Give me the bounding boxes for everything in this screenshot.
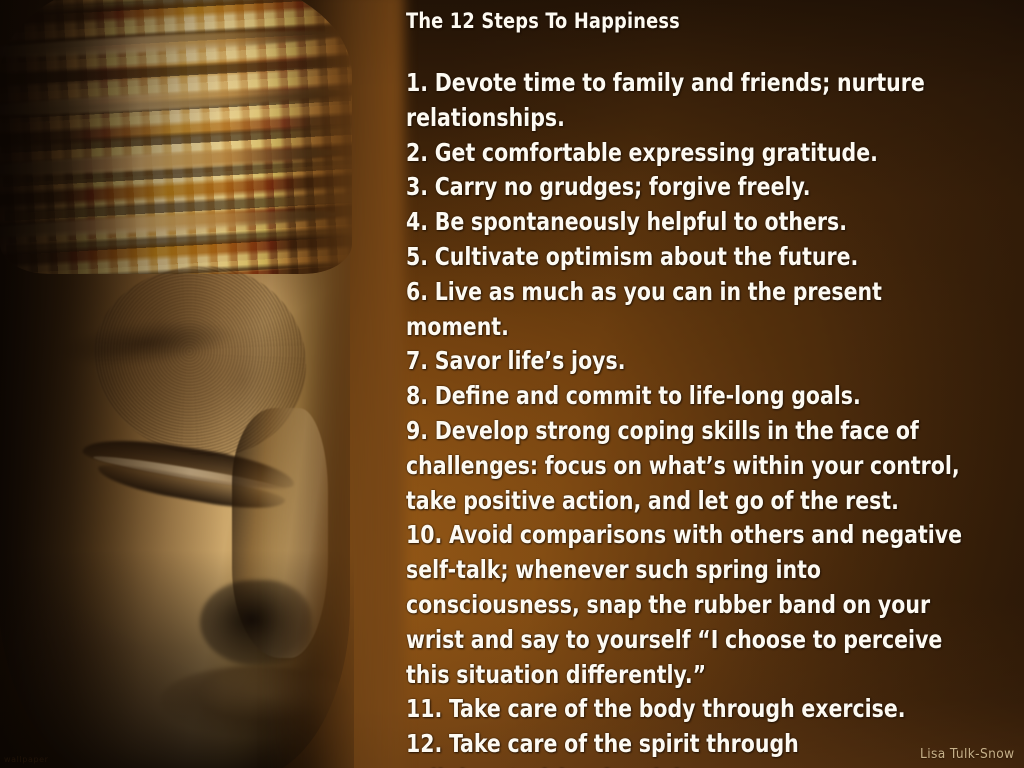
list-item: 6. Live as much as you can in the presen… xyxy=(406,275,971,345)
list-item: 5. Cultivate optimism about the future. xyxy=(406,240,971,275)
steps-list: 1. Devote time to family and friends; nu… xyxy=(406,66,1014,768)
statue-edge-fade xyxy=(264,0,404,768)
list-item: 12. Take care of the spirit through reli… xyxy=(406,727,971,768)
watermark-text: wallpaper xyxy=(4,755,49,764)
list-item: 11. Take care of the body through exerci… xyxy=(406,692,971,727)
list-item: 7. Savor life’s joys. xyxy=(406,344,971,379)
list-item: 9. Develop strong coping skills in the f… xyxy=(406,414,971,518)
page-title: The 12 Steps To Happiness xyxy=(406,8,965,36)
list-item: 10. Avoid comparisons with others and ne… xyxy=(406,518,971,692)
poster-image: The 12 Steps To Happiness 1. Devote time… xyxy=(0,0,1024,768)
author-signature: Lisa Tulk-Snow xyxy=(920,747,1014,762)
list-item: 3. Carry no grudges; forgive freely. xyxy=(406,170,971,205)
list-item: 8. Define and commit to life-long goals. xyxy=(406,379,971,414)
list-item: 2. Get comfortable expressing gratitude. xyxy=(406,136,971,171)
list-item: 1. Devote time to family and friends; nu… xyxy=(406,66,971,136)
list-item: 4. Be spontaneously helpful to others. xyxy=(406,205,971,240)
buddha-statue-image xyxy=(0,0,394,768)
text-column: The 12 Steps To Happiness 1. Devote time… xyxy=(406,8,1014,768)
